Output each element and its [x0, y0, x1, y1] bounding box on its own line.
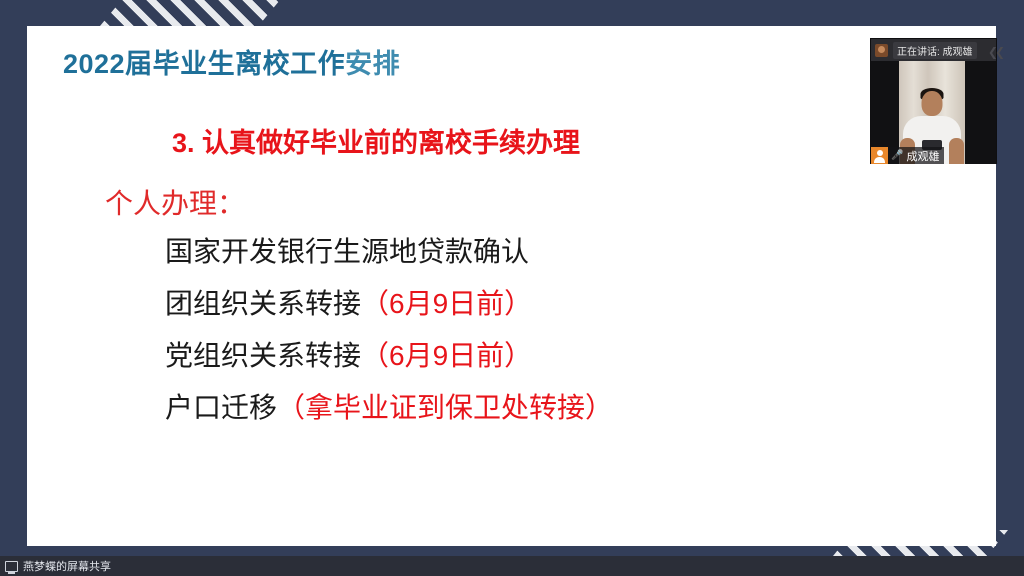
monitor-icon	[5, 561, 18, 572]
list-item-text: 户口迁移	[165, 392, 277, 423]
presentation-slide: 2022届毕业生离校工作安排 3. 认真做好毕业前的离校手续办理 个人办理： 国…	[27, 26, 996, 546]
list-item-text: 国家开发银行生源地贷款确认	[165, 236, 529, 267]
slide-title-main: 2022届毕业生离校工作	[63, 49, 345, 79]
list-item-note: （6月9日前）	[361, 340, 532, 371]
collapse-chevron-icon[interactable]: ❮❮	[988, 45, 1002, 59]
list-item-note: （6月9日前）	[361, 288, 532, 319]
list-item: 国家开发银行生源地贷款确认	[165, 238, 613, 266]
participant-name-badge: 🎤 成观雄	[871, 147, 944, 164]
list-item-note: （拿毕业证到保卫处转接）	[277, 392, 613, 423]
video-stage[interactable]: 🎤 成观雄	[871, 61, 996, 164]
subheading: 个人办理：	[105, 182, 245, 222]
slide-title-suffix: 安排	[345, 49, 400, 79]
bullet-list: 国家开发银行生源地贷款确认 团组织关系转接（6月9日前） 党组织关系转接（6月9…	[165, 238, 613, 422]
screen-share-status-text: 燕梦蝶的屏幕共享	[23, 558, 111, 574]
active-speaker-label: 正在讲话: 成观雄	[893, 42, 977, 59]
person-arm-right	[949, 138, 964, 164]
decorative-stripes-top-left	[100, 0, 280, 26]
participant-video-panel[interactable]: 正在讲话: 成观雄 ❮❮ 🎤 成观雄	[870, 38, 997, 164]
speaker-avatar-icon	[875, 44, 888, 57]
list-item: 户口迁移（拿毕业证到保卫处转接）	[165, 394, 613, 422]
slide-title: 2022届毕业生离校工作安排	[63, 42, 400, 81]
list-item: 党组织关系转接（6月9日前）	[165, 342, 613, 370]
microphone-icon: 🎤	[891, 151, 903, 161]
participant-avatar-icon	[871, 147, 888, 164]
person-head	[922, 91, 943, 116]
list-item-text: 团组织关系转接	[165, 288, 361, 319]
screen-share-status-bar: 燕梦蝶的屏幕共享	[0, 556, 1024, 576]
section-heading: 3. 认真做好毕业前的离校手续办理	[172, 121, 580, 160]
participant-name: 成观雄	[906, 148, 939, 164]
list-item: 团组织关系转接（6月9日前）	[165, 290, 613, 318]
list-item-text: 党组织关系转接	[165, 340, 361, 371]
video-panel-header: 正在讲话: 成观雄 ❮❮	[871, 39, 996, 61]
screen-share-viewport: 2022届毕业生离校工作安排 3. 认真做好毕业前的离校手续办理 个人办理： 国…	[0, 0, 1024, 576]
